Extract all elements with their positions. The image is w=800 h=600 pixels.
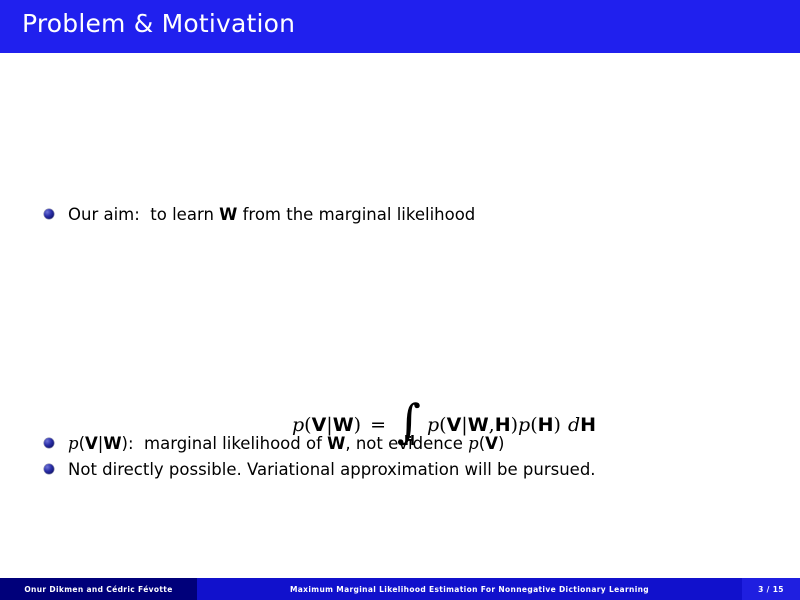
footer-page-number: 3 / 15 bbox=[742, 578, 800, 600]
slide-title: Problem & Motivation bbox=[22, 9, 295, 38]
list-item: Our aim: to learn W from the marginal li… bbox=[44, 203, 754, 227]
ball-bullet-icon bbox=[44, 464, 54, 474]
list-item-text: Not directly possible. Variational appro… bbox=[68, 460, 596, 479]
footer-presentation-title: Maximum Marginal Likelihood Estimation F… bbox=[197, 578, 742, 600]
ball-bullet-icon bbox=[44, 438, 54, 448]
list-item-text: p(V|W): marginal likelihood of W, not ev… bbox=[68, 434, 504, 453]
bullet-list: Our aim: to learn W from the marginal li… bbox=[44, 203, 754, 488]
footer-bar: Onur Dikmen and Cédric Févotte Maximum M… bbox=[0, 578, 800, 600]
list-item-text: Our aim: to learn W from the marginal li… bbox=[68, 205, 475, 224]
list-item: Not directly possible. Variational appro… bbox=[44, 458, 754, 482]
slide-title-bar: Problem & Motivation bbox=[0, 0, 800, 53]
slide-frame: Problem & Motivation Our aim: to learn W… bbox=[0, 0, 800, 600]
ball-bullet-icon bbox=[44, 209, 54, 219]
slide-body: Our aim: to learn W from the marginal li… bbox=[0, 53, 800, 573]
footer-author: Onur Dikmen and Cédric Févotte bbox=[0, 578, 197, 600]
list-item: p(V|W): marginal likelihood of W, not ev… bbox=[44, 432, 754, 456]
